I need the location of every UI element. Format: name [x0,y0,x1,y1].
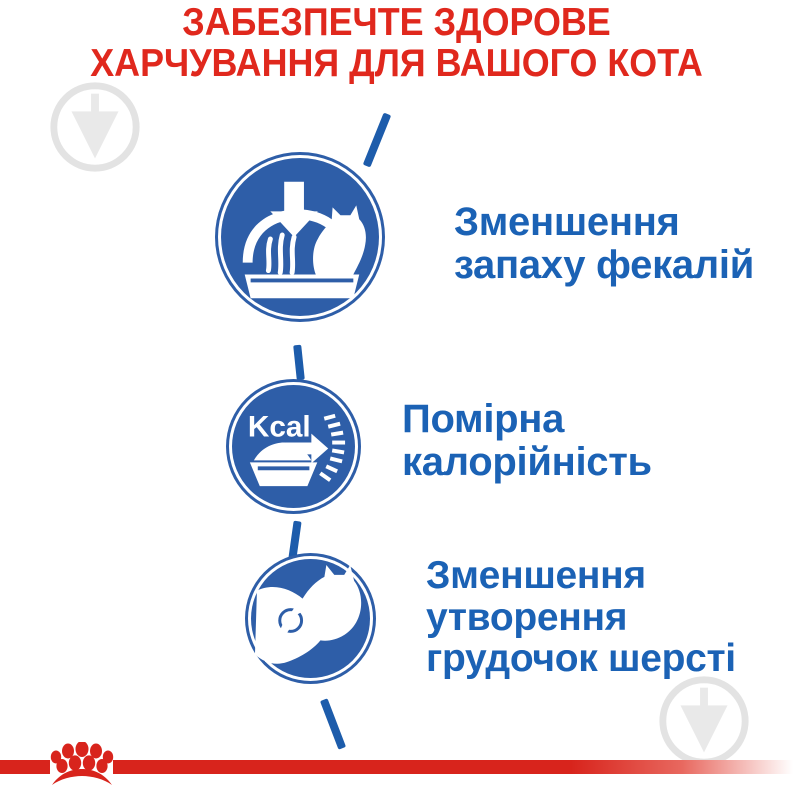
footer-red-bar [0,760,793,774]
page-title-line-1: ЗАБЕЗПЕЧТЕ ЗДОРОВЕ [32,2,762,43]
kcal-label: Kcal [248,411,311,444]
feature-label-moderate-calories: Помірна калорійність [402,398,652,484]
royal-canin-crown-logo [46,742,118,786]
connector-dash-bottom [320,698,346,749]
infographic-canvas: ЗАБЕЗПЕЧТЕ ЗДОРОВЕ ХАРЧУВАННЯ ДЛЯ ВАШОГО… [0,0,793,800]
connector-dash-2-3 [288,521,301,560]
site-watermark-top-left [46,78,144,176]
feature-label-line: грудочок шерсті [426,638,736,680]
feature-icon-moderate-calories[interactable]: Kcal [232,385,355,508]
feature-icon-hairball-reduction[interactable] [251,559,370,678]
feature-label-line: калорійність [402,441,652,484]
feature-label-hairball-reduction: Зменшення утворення грудочок шерсті [426,555,736,680]
feature-label-line: Зменшення [426,555,736,597]
feature-label-line: Зменшення [454,201,754,244]
site-watermark-bottom-right [655,672,753,770]
feature-label-line: утворення [426,597,736,639]
page-title-line-2: ХАРЧУВАННЯ ДЛЯ ВАШОГО КОТА [32,43,762,84]
connector-dash-1-2 [293,345,305,381]
feature-label-line: запаху фекалій [454,244,754,287]
page-title: ЗАБЕЗПЕЧТЕ ЗДОРОВЕ ХАРЧУВАННЯ ДЛЯ ВАШОГО… [32,2,762,84]
feature-icon-stool-odour[interactable] [221,158,379,316]
feature-label-stool-odour: Зменшення запаху фекалій [454,201,754,287]
feature-label-line: Помірна [402,398,652,441]
